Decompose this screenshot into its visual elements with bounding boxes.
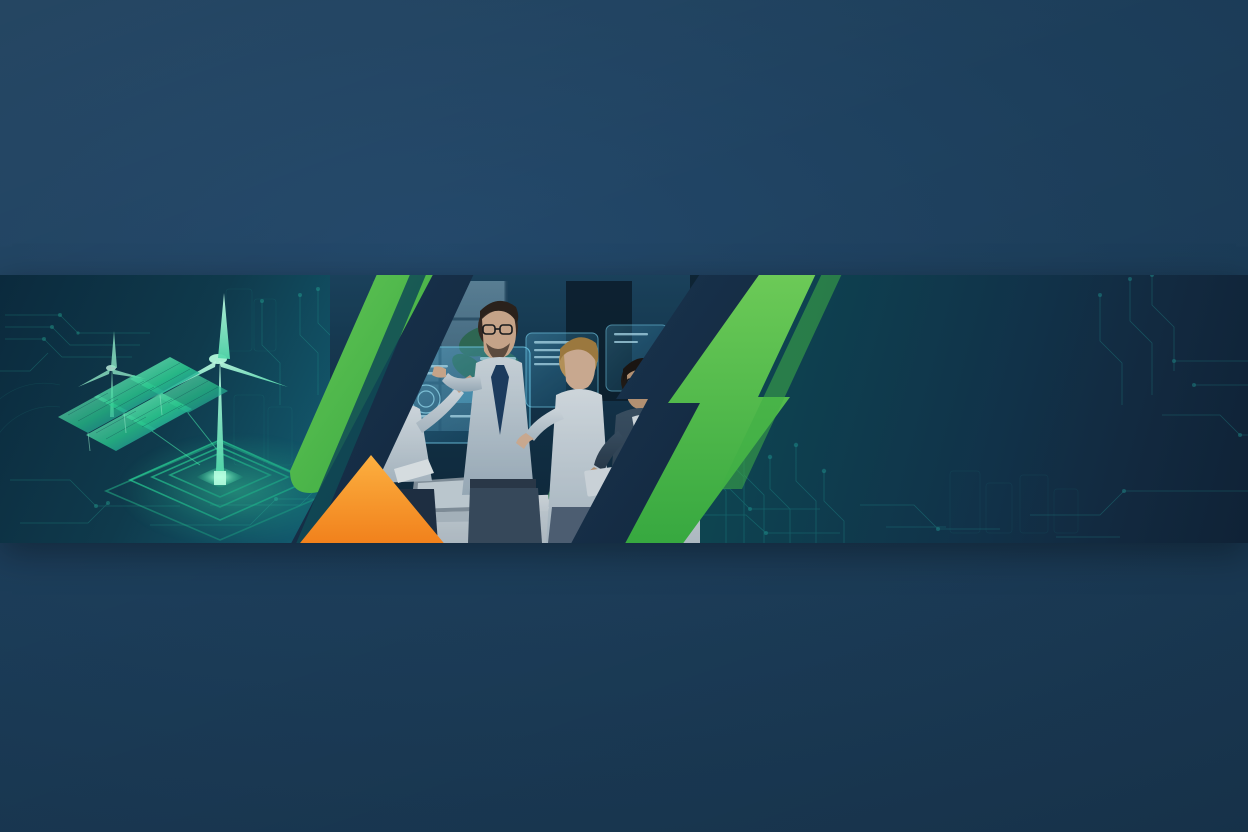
- center-photo-panel: [330, 275, 750, 543]
- team-collaboration-photo: [330, 275, 750, 543]
- banner-page: TM ENERGY SECTOR SKILLS ACCLERATOR FUEL …: [0, 0, 1248, 832]
- right-content-panel: [700, 275, 1248, 543]
- circuit-pattern-right: [700, 275, 1248, 543]
- marketing-banner: TM ENERGY SECTOR SKILLS ACCLERATOR FUEL …: [0, 275, 1248, 543]
